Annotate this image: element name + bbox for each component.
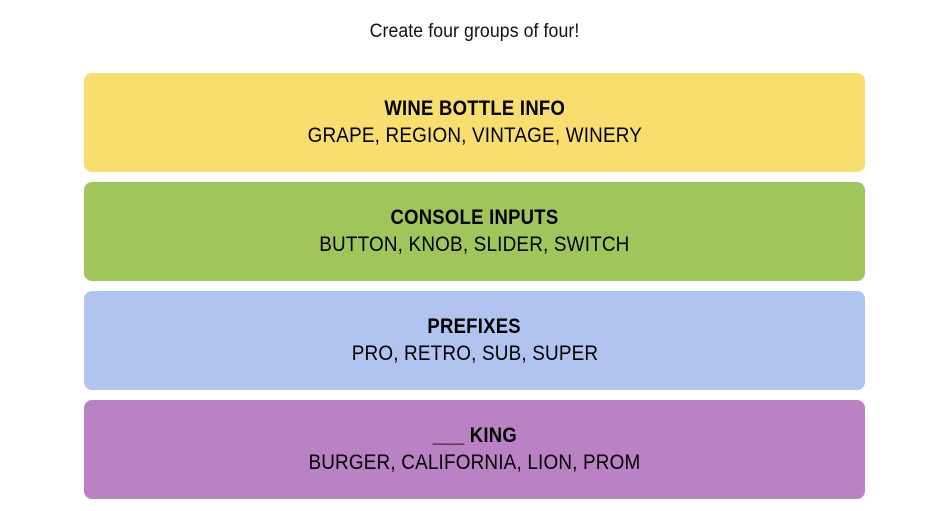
instruction-text: Create four groups of four! xyxy=(33,20,916,44)
group-members: BUTTON, KNOB, SLIDER, SWITCH xyxy=(319,231,629,259)
groups-board: WINE BOTTLE INFO GRAPE, REGION, VINTAGE,… xyxy=(84,73,865,499)
group-title: WINE BOTTLE INFO xyxy=(384,95,565,122)
group-title: ___ KING xyxy=(432,422,516,449)
group-members: PRO, RETRO, SUB, SUPER xyxy=(351,340,598,368)
group-tile-purple[interactable]: ___ KING BURGER, CALIFORNIA, LION, PROM xyxy=(84,400,865,499)
group-tile-blue[interactable]: PREFIXES PRO, RETRO, SUB, SUPER xyxy=(84,291,865,390)
group-tile-yellow[interactable]: WINE BOTTLE INFO GRAPE, REGION, VINTAGE,… xyxy=(84,73,865,172)
connections-solution-board: Create four groups of four! WINE BOTTLE … xyxy=(0,0,949,511)
group-title: CONSOLE INPUTS xyxy=(391,204,559,231)
group-title: PREFIXES xyxy=(428,313,522,340)
group-members: GRAPE, REGION, VINTAGE, WINERY xyxy=(307,122,641,150)
group-tile-green[interactable]: CONSOLE INPUTS BUTTON, KNOB, SLIDER, SWI… xyxy=(84,182,865,281)
group-members: BURGER, CALIFORNIA, LION, PROM xyxy=(308,449,640,477)
